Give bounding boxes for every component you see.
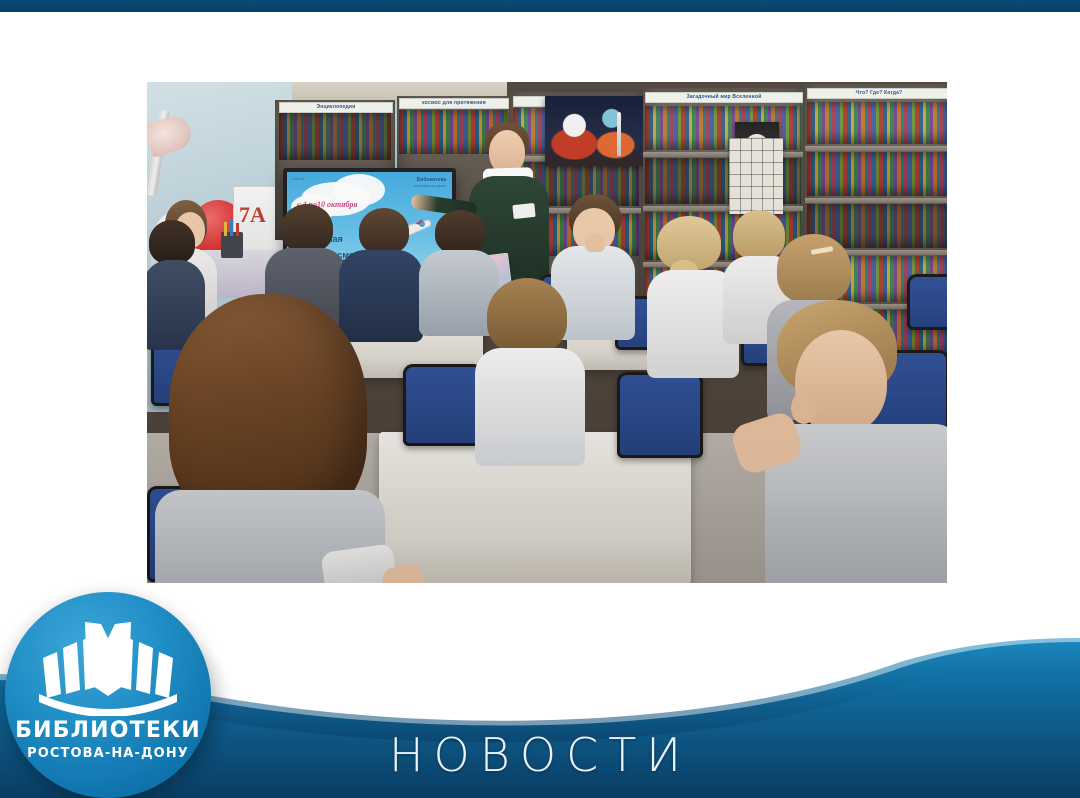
- cosmonaut-poster: [545, 96, 643, 166]
- news-photo: 7А Энциклопедии космос для притяжения Эн…: [147, 82, 947, 583]
- chair: [617, 372, 703, 458]
- open-book-icon: [35, 620, 181, 716]
- presenter-badge: [512, 203, 535, 219]
- hair: [487, 278, 567, 354]
- slide-canvas: 7А Энциклопедии космос для притяжения Эн…: [0, 0, 1080, 798]
- shelf-label: космос для притяжения: [399, 98, 509, 109]
- screen-corner-note: c-lib.ru: [292, 176, 304, 181]
- shelf-label: Энциклопедии: [279, 102, 393, 113]
- audience-member-foreground: [765, 300, 947, 583]
- book-row: [279, 112, 391, 160]
- hair: [435, 210, 485, 254]
- hair: [149, 220, 195, 264]
- book-row: [807, 152, 947, 196]
- photo-scene: 7А Энциклопедии космос для притяжения Эн…: [147, 82, 947, 583]
- poster-7a-text: 7А: [239, 202, 266, 228]
- hair: [281, 204, 333, 252]
- hair: [777, 234, 851, 304]
- rocket-icon: [617, 112, 621, 156]
- hair: [359, 208, 409, 254]
- pencil: [230, 220, 233, 236]
- shelf-board: [805, 198, 947, 203]
- audience-member: [475, 278, 585, 458]
- grid-poster: [729, 138, 783, 214]
- body: [475, 348, 585, 466]
- audience-member-foreground: [155, 294, 387, 583]
- screen-brand-sub: РОСТОВА-НА-ДОНУ: [414, 183, 446, 189]
- shelf-label: Загадочный мир Вселенной: [645, 92, 803, 103]
- book-row: [807, 102, 947, 144]
- shelf-label: Что? Где? Когда?: [807, 88, 947, 99]
- pencil: [224, 222, 227, 236]
- pencil: [236, 223, 239, 236]
- logo-title: БИБЛИОТЕКИ: [5, 718, 211, 743]
- screen-brand: Библиотека РОСТОВА-НА-ДОНУ: [414, 177, 446, 189]
- ear: [791, 392, 817, 424]
- hand: [585, 234, 605, 252]
- library-logo-badge[interactable]: БИБЛИОТЕКИ РОСТОВА-НА-ДОНУ: [5, 592, 211, 798]
- top-accent-bar: [0, 0, 1080, 12]
- chair: [403, 364, 483, 446]
- logo-subtitle: РОСТОВА-НА-ДОНУ: [5, 746, 211, 761]
- shelf-board: [805, 146, 947, 151]
